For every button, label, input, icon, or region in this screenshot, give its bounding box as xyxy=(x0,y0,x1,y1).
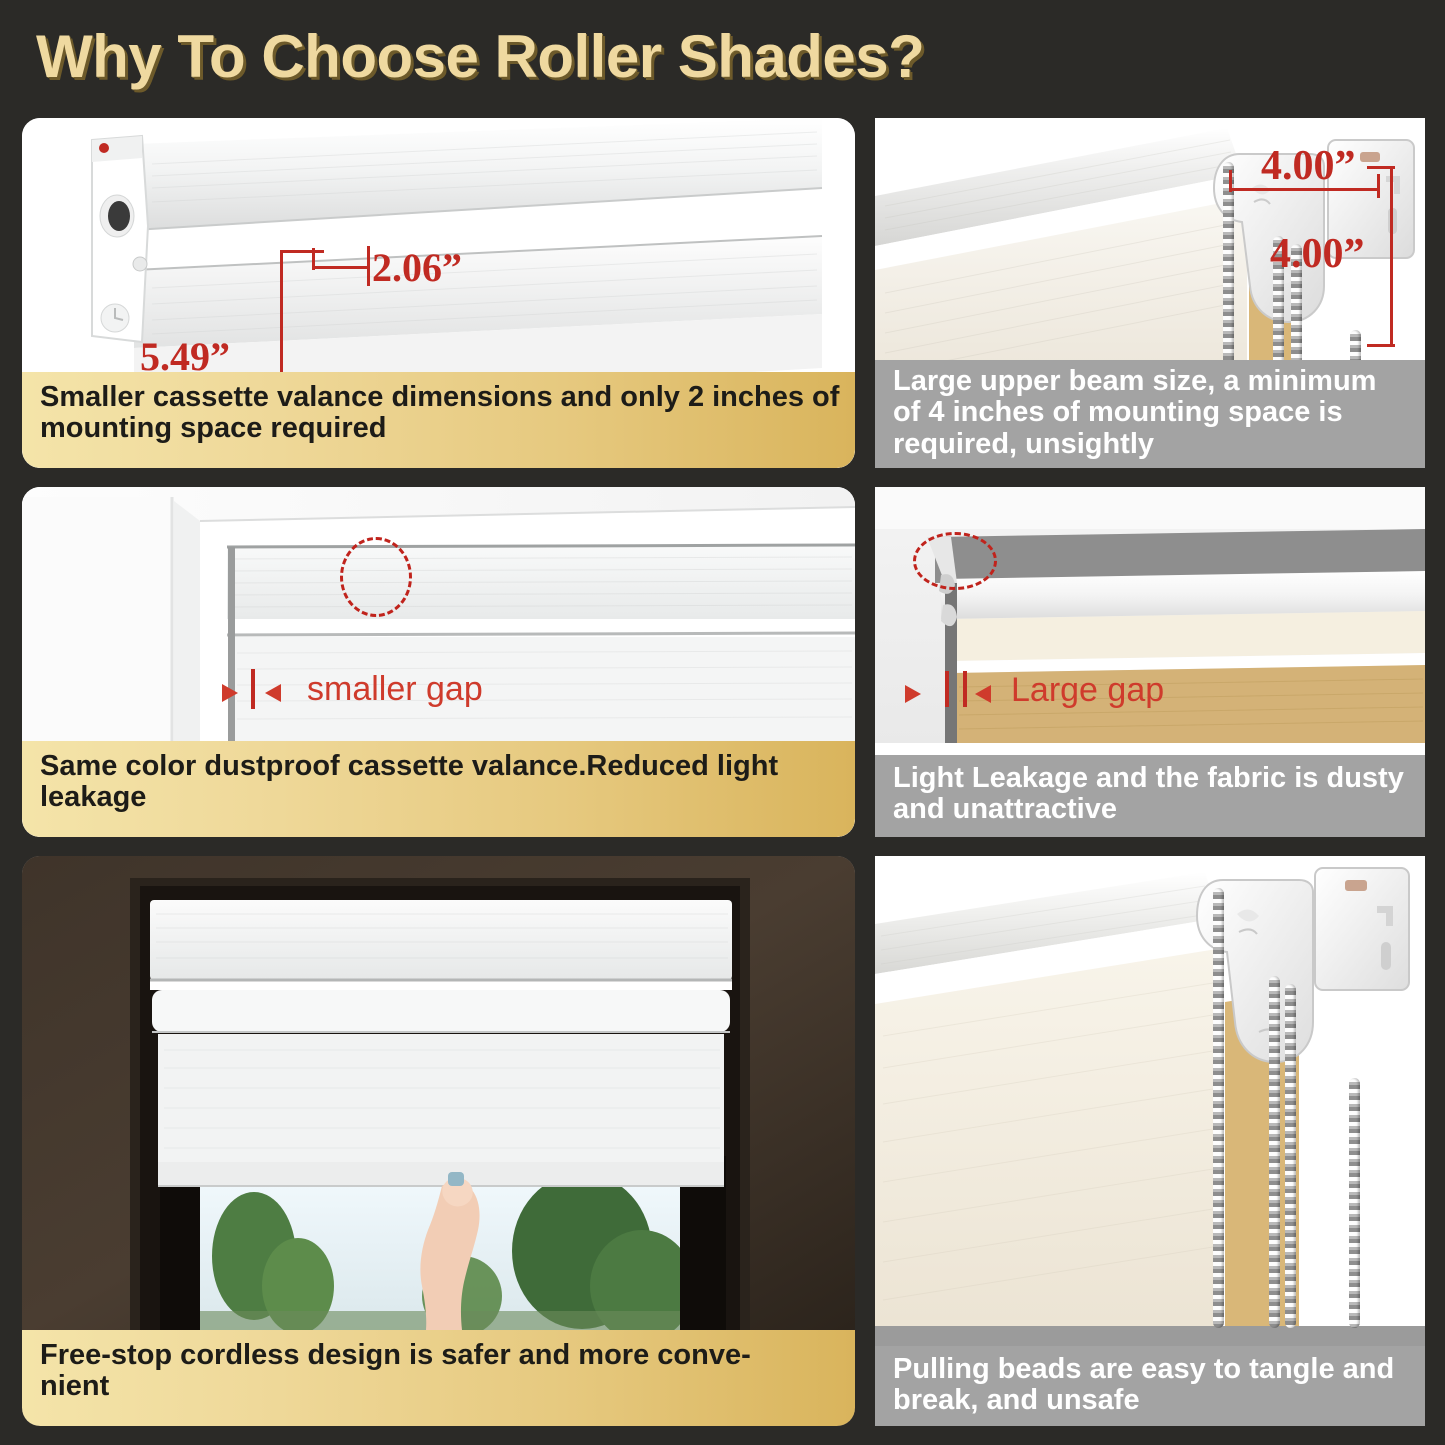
bead-chain-far-right xyxy=(1349,1078,1360,1328)
bead-chain-front xyxy=(1223,162,1234,378)
bead-chain-center xyxy=(1269,976,1280,1328)
dim-tick-400h-right xyxy=(1377,174,1380,198)
dim-tick-400h-left xyxy=(1229,170,1232,192)
panel-bottom-right: Pulling beads are easy to tangle and bre… xyxy=(875,856,1425,1426)
gap-measure-bar xyxy=(251,669,255,709)
dimension-label-beam-width: 4.00” xyxy=(1261,142,1356,190)
bead-chain-center2 xyxy=(1285,984,1296,1328)
caption-bottom-right: Pulling beads are easy to tangle and bre… xyxy=(875,1346,1425,1426)
gap-arrow-pointing-left xyxy=(265,684,281,702)
large-gap-arrow-right xyxy=(905,685,921,703)
caption-mid-right: Light Leakage and the fabric is dusty an… xyxy=(875,755,1425,837)
panel-top-right: 4.00” 4.00” Large upper beam size, a min… xyxy=(875,118,1425,468)
page-title: Why To Choose Roller Shades? xyxy=(36,18,1036,96)
large-gap-arrow-left xyxy=(975,685,991,703)
dimension-label-beam-depth: 4.00” xyxy=(1270,230,1365,278)
infographic-root: Why To Choose Roller Shades? xyxy=(0,0,1445,1445)
dim-tick-400v-top xyxy=(1367,166,1395,169)
panel-bottom-left: Free-stop cordless design is safer and m… xyxy=(22,856,855,1426)
caption-bottom-left: Free-stop cordless design is safer and m… xyxy=(22,1330,855,1426)
gap-label-smaller: smaller gap xyxy=(307,670,483,709)
dimension-label-width: 2.06” xyxy=(372,244,462,291)
dim-tick-549-top xyxy=(280,250,324,253)
large-gap-measure-bar-b xyxy=(963,671,967,707)
image-pulling-beads xyxy=(875,856,1425,1426)
dim-tick-400v-bottom xyxy=(1367,344,1395,347)
panel-mid-left: smaller gap Same color dustproof cassett… xyxy=(22,487,855,837)
gap-label-large: Large gap xyxy=(1011,671,1164,710)
caption-mid-left: Same color dustproof cassette valance.Re… xyxy=(22,741,855,837)
mounting-bracket-bottom xyxy=(1193,866,1423,1096)
dim-tick-206-right xyxy=(367,246,370,286)
gap-arrow-pointing-right xyxy=(222,684,238,702)
room-window-scene xyxy=(22,856,855,1330)
dim-line-400-vertical xyxy=(1390,166,1393,346)
dim-line-206-horizontal xyxy=(314,266,370,269)
large-gap-measure-bar-a xyxy=(945,671,949,707)
panel-top-left: 2.06” 5.49” Smaller cassette valance dim… xyxy=(22,118,855,468)
caption-top-left: Smaller cassette valance dimensions and … xyxy=(22,372,855,468)
panel-mid-right: Large gap Light Leakage and the fabric i… xyxy=(875,487,1425,837)
bead-chain-left xyxy=(1213,888,1224,1328)
caption-top-right: Large upper beam size, a minimum of 4 in… xyxy=(875,360,1425,468)
highlight-circle-top-gap xyxy=(340,537,412,617)
highlight-circle-large-gap xyxy=(913,532,997,590)
